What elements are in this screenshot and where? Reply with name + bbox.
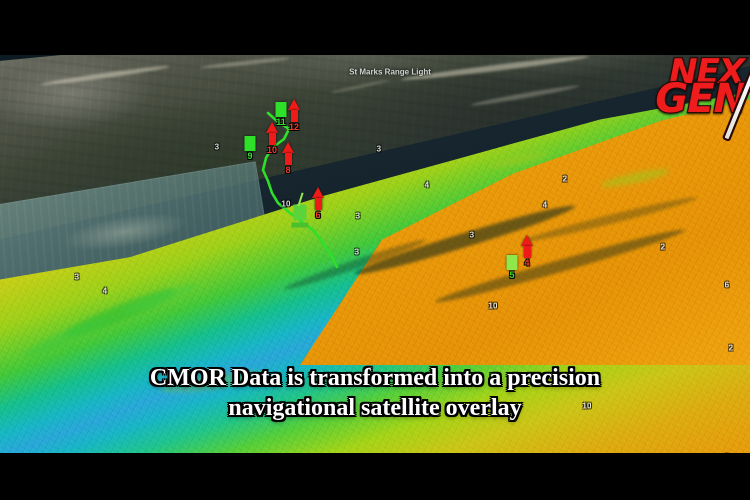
can-buoy-icon (276, 102, 287, 117)
nav-marker-label: 10 (266, 145, 278, 155)
place-label: St Marks Range Light (349, 68, 431, 77)
depth-sounding: 4 (543, 201, 548, 210)
depth-sounding: 3 (356, 212, 361, 221)
structure-label: 10 (281, 200, 290, 209)
nav-marker-6[interactable]: 6 (312, 187, 324, 220)
vessel-track-layer (0, 55, 750, 453)
nav-marker-label: 12 (288, 122, 300, 132)
depth-sounding: 3 (470, 231, 475, 240)
depth-sounding: 3 (215, 143, 220, 152)
screenshot-root: 33442233634310310243St Marks Range Light… (0, 0, 750, 500)
nun-buoy-body-icon (291, 110, 298, 122)
depth-sounding: 3 (75, 273, 80, 282)
logo-text-gen: GEN (655, 83, 746, 116)
nav-marker-label: 6 (312, 210, 324, 220)
nun-buoy-body-icon (315, 198, 322, 210)
nav-marker-8[interactable]: 8 (282, 142, 294, 175)
nexgen-logo: NEX GEN (655, 59, 744, 116)
depth-sounding: 4 (425, 181, 430, 190)
depth-sounding: 10 (488, 302, 497, 311)
nun-buoy-icon (312, 187, 324, 198)
letterbox-bar-bottom (0, 453, 750, 500)
map-viewport[interactable]: 33442233634310310243St Marks Range Light… (0, 55, 750, 453)
nun-buoy-body-icon (524, 246, 531, 258)
nav-marker-label: 8 (282, 165, 294, 175)
depth-sounding: 10 (582, 402, 591, 411)
depth-sounding: 2 (729, 344, 734, 353)
depth-sounding: 4 (103, 287, 108, 296)
channel-marker-pile[interactable] (292, 193, 309, 228)
depth-sounding: 3 (174, 373, 179, 382)
can-buoy-icon (507, 255, 518, 270)
nav-marker-12[interactable]: 12 (288, 99, 300, 132)
nav-marker-5[interactable]: 5 (507, 255, 518, 280)
pile-dayboard-icon (294, 205, 307, 221)
depth-sounding: 2 (661, 243, 666, 252)
nun-buoy-icon (266, 122, 278, 133)
depth-sounding: 2 (563, 175, 568, 184)
depth-sounding: 3 (377, 145, 382, 154)
nun-buoy-body-icon (285, 153, 292, 165)
can-buoy-icon (245, 136, 256, 151)
nav-marker-label: 9 (245, 151, 256, 161)
nav-marker-9[interactable]: 9 (245, 136, 256, 161)
nav-marker-label: 5 (507, 270, 518, 280)
depth-sounding: 3 (355, 248, 360, 257)
letterbox-bar-top (0, 0, 750, 55)
nun-buoy-icon (521, 235, 533, 246)
pile-base-icon (292, 223, 309, 228)
nav-marker-label: 4 (521, 258, 533, 268)
depth-sounding: 6 (725, 281, 730, 290)
nun-buoy-icon (288, 99, 300, 110)
nun-buoy-body-icon (269, 133, 276, 145)
nun-buoy-icon (282, 142, 294, 153)
nav-marker-4[interactable]: 4 (521, 235, 533, 268)
nav-marker-10[interactable]: 10 (266, 122, 278, 155)
